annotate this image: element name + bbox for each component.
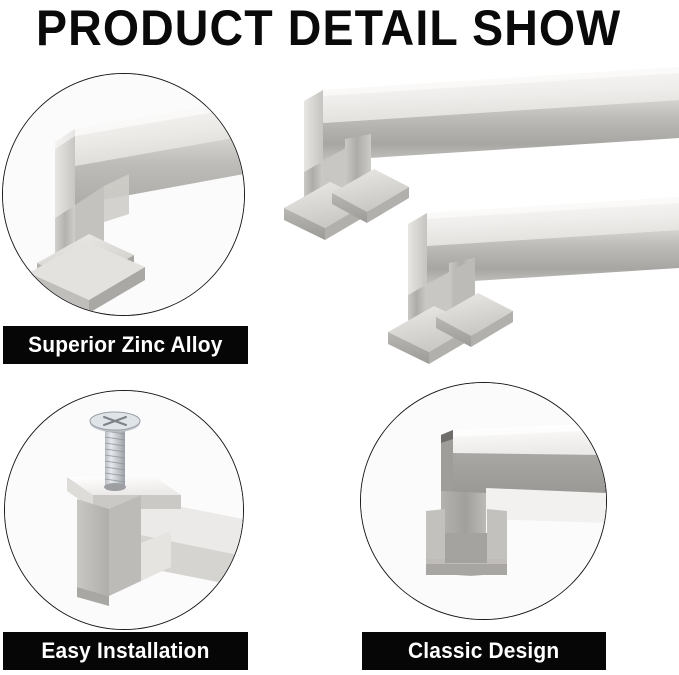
- caption-superior-zinc-alloy-label: Superior Zinc Alloy: [28, 332, 222, 358]
- inset-classic-design: [360, 382, 607, 620]
- classic-design-illustration: [361, 383, 606, 619]
- product-detail-page: PRODUCT DETAIL SHOW: [0, 0, 679, 675]
- page-title: PRODUCT DETAIL SHOW: [36, 0, 621, 58]
- zinc-alloy-illustration: [3, 74, 244, 315]
- caption-superior-zinc-alloy: Superior Zinc Alloy: [3, 326, 248, 364]
- cabinet-pull-lower: [388, 197, 679, 364]
- caption-classic-design: Classic Design: [362, 632, 606, 670]
- main-product-photo: [270, 60, 679, 390]
- inset-superior-zinc-alloy: [2, 73, 245, 316]
- caption-easy-installation-label: Easy Installation: [41, 638, 209, 664]
- product-photo-illustration: [270, 60, 679, 390]
- caption-easy-installation: Easy Installation: [3, 632, 248, 670]
- caption-classic-design-label: Classic Design: [408, 638, 559, 664]
- inset-easy-installation: [4, 390, 244, 630]
- easy-installation-illustration: [5, 391, 243, 629]
